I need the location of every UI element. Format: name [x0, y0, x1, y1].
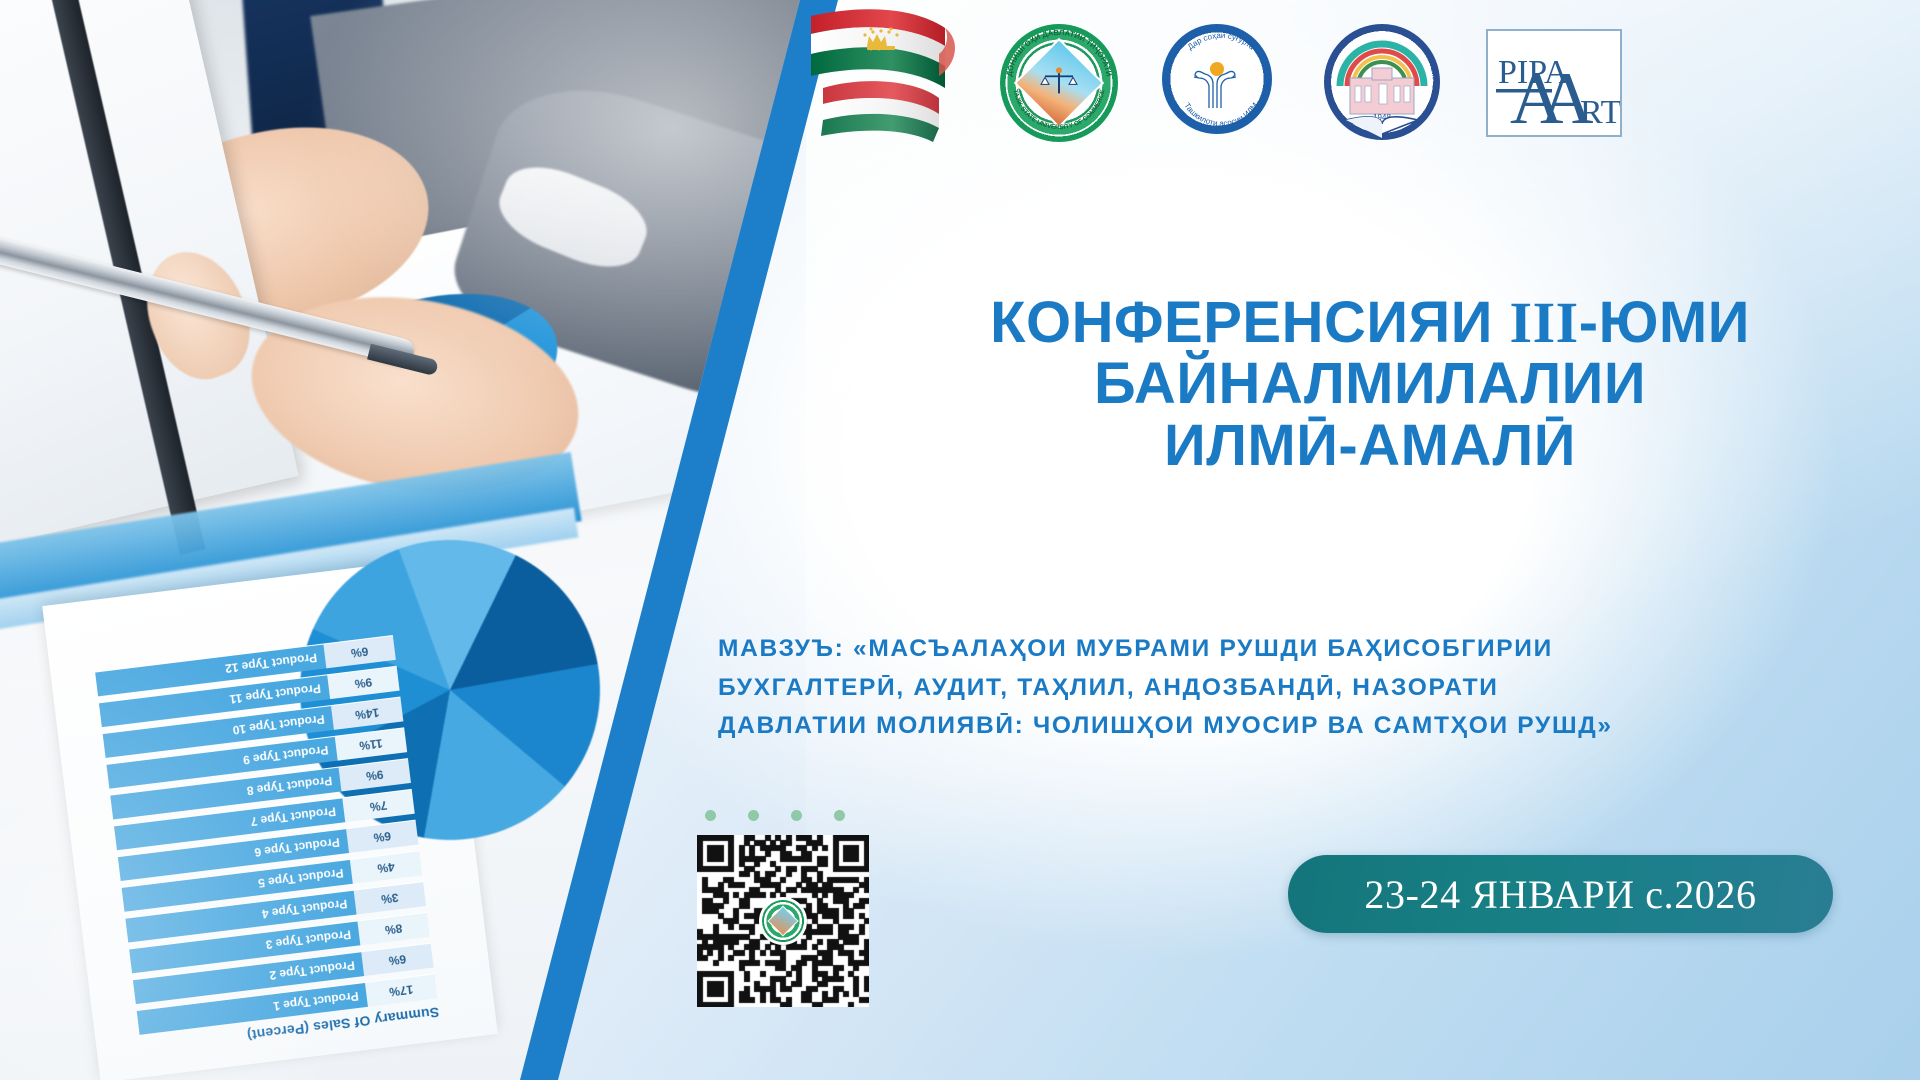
- svg-text:TAJIK STATE UNIVERSITY OF COMM: TAJIK STATE UNIVERSITY OF COMMERCE: [1012, 88, 1107, 131]
- logo-ring-text: ДОНИШГОҲИ МИЛЛИИ ТОҶИКИСТОН · TAJIK NATI…: [1324, 24, 1442, 142]
- title-roman-numeral: III: [1510, 290, 1579, 355]
- logo-tajik-state-university-of-commerce: ДОНИШГОҲИ ДАВЛАТИИ ТИҶОРАТИ TAJIK STATE …: [1000, 24, 1118, 142]
- title-line-3: ИЛМӢ-АМАЛӢ: [880, 415, 1860, 476]
- logo-pipa-aart: PIPA A A RT: [1486, 29, 1622, 137]
- svg-text:ДОНИШГОҲИ ДАВЛАТИИ ТИҶОРАТИ: ДОНИШГОҲИ ДАВЛАТИИ ТИҶОРАТИ: [1004, 28, 1113, 77]
- photo-table-value: 7%: [342, 789, 415, 822]
- logo-partner-university: 1948 ДОНИШГОҲИ МИЛЛИИ ТОҶИКИСТОН · TAJIK…: [1324, 24, 1442, 142]
- qr-decor-dot: [748, 810, 759, 821]
- photo-table-value: 6%: [346, 820, 419, 853]
- svg-text:RT: RT: [1580, 94, 1620, 131]
- theme-line-2: БУХГАЛТЕРӢ, АУДИТ, ТАҲЛИЛ, АНДОЗБАНДӢ, Н…: [718, 669, 1886, 708]
- title-line-1b: -ЮМИ: [1579, 290, 1750, 355]
- photo-table-value: 14%: [331, 697, 404, 730]
- photo-table-value: 4%: [350, 850, 423, 883]
- qr-block[interactable]: [697, 810, 887, 1040]
- qr-decor-dot: [705, 810, 716, 821]
- qr-decor-dot: [834, 810, 845, 821]
- partner-logo-bar: ДОНИШГОҲИ ДАВЛАТИИ ТИҶОРАТИ TAJIK STATE …: [1000, 24, 1622, 142]
- tajikistan-flag-ribbon-icon: [805, 2, 965, 152]
- title-line-1: КОНФЕРЕНСИЯИ III-ЮМИ: [880, 292, 1860, 353]
- logo-ring-text: Дар соҳаи суғурта Ташкилоти асосии ИДМ: [1162, 24, 1280, 142]
- svg-text:Дар соҳаи суғурта: Дар соҳаи суғурта: [1186, 31, 1257, 52]
- qr-center-logo-icon: [762, 900, 804, 942]
- svg-text:ДОНИШГОҲИ МИЛЛИИ ТОҶИКИСТОН ·: ДОНИШГОҲИ МИЛЛИИ ТОҶИКИСТОН · TAJIK NATI…: [1324, 24, 1434, 84]
- photo-table-value: 8%: [357, 912, 430, 945]
- pipa-aart-wordmark: PIPA A A RT: [1488, 31, 1620, 135]
- theme-line-1: МАВЗУЪ: «МАСЪАЛАҲОИ МУБРАМИ РУШДИ БАҲИСО…: [718, 630, 1886, 669]
- event-date-badge: 23-24 ЯНВАРИ с.2026: [1288, 855, 1833, 933]
- photo-table-value: 9%: [338, 758, 411, 791]
- photo-table-value: 9%: [327, 666, 400, 699]
- title-line-2: БАЙНАЛМИЛАЛИИ: [880, 353, 1860, 414]
- photo-table-value: 11%: [335, 727, 408, 760]
- theme-line-3: ДАВЛАТИИ МОЛИЯВӢ: ЧОЛИШҲОИ МУОСИР ВА САМ…: [718, 707, 1886, 746]
- qr-dot-row: [705, 810, 887, 821]
- qr-decor-dot: [791, 810, 802, 821]
- logo-cis-insurance-organization: Дар соҳаи суғурта Ташкилоти асосии ИДМ: [1162, 24, 1280, 142]
- photo-table-value: 6%: [361, 943, 434, 976]
- registration-qr-code[interactable]: [697, 835, 869, 1007]
- title-line-1a: КОНФЕРЕНСИЯИ: [990, 290, 1509, 355]
- svg-text:Ташкилоти асосии ИДМ: Ташкилоти асосии ИДМ: [1182, 101, 1260, 128]
- photo-table-value: 17%: [365, 973, 438, 1006]
- conference-title: КОНФЕРЕНСИЯИ III-ЮМИ БАЙНАЛМИЛАЛИИ ИЛМӢ-…: [880, 292, 1860, 476]
- photo-table-value: 6%: [323, 635, 396, 668]
- photo-table-value: 3%: [354, 881, 427, 914]
- photo-summary-table: Summary Of Sales (Percent) 17%Product Ty…: [90, 593, 440, 1056]
- logo-ring-text: ДОНИШГОҲИ ДАВЛАТИИ ТИҶОРАТИ TAJIK STATE …: [1000, 24, 1118, 142]
- conference-theme: МАВЗУЪ: «МАСЪАЛАҲОИ МУБРАМИ РУШДИ БАҲИСО…: [718, 630, 1886, 746]
- banner-canvas: Summary Of Sales (Percent) 17%Product Ty…: [0, 0, 1920, 1080]
